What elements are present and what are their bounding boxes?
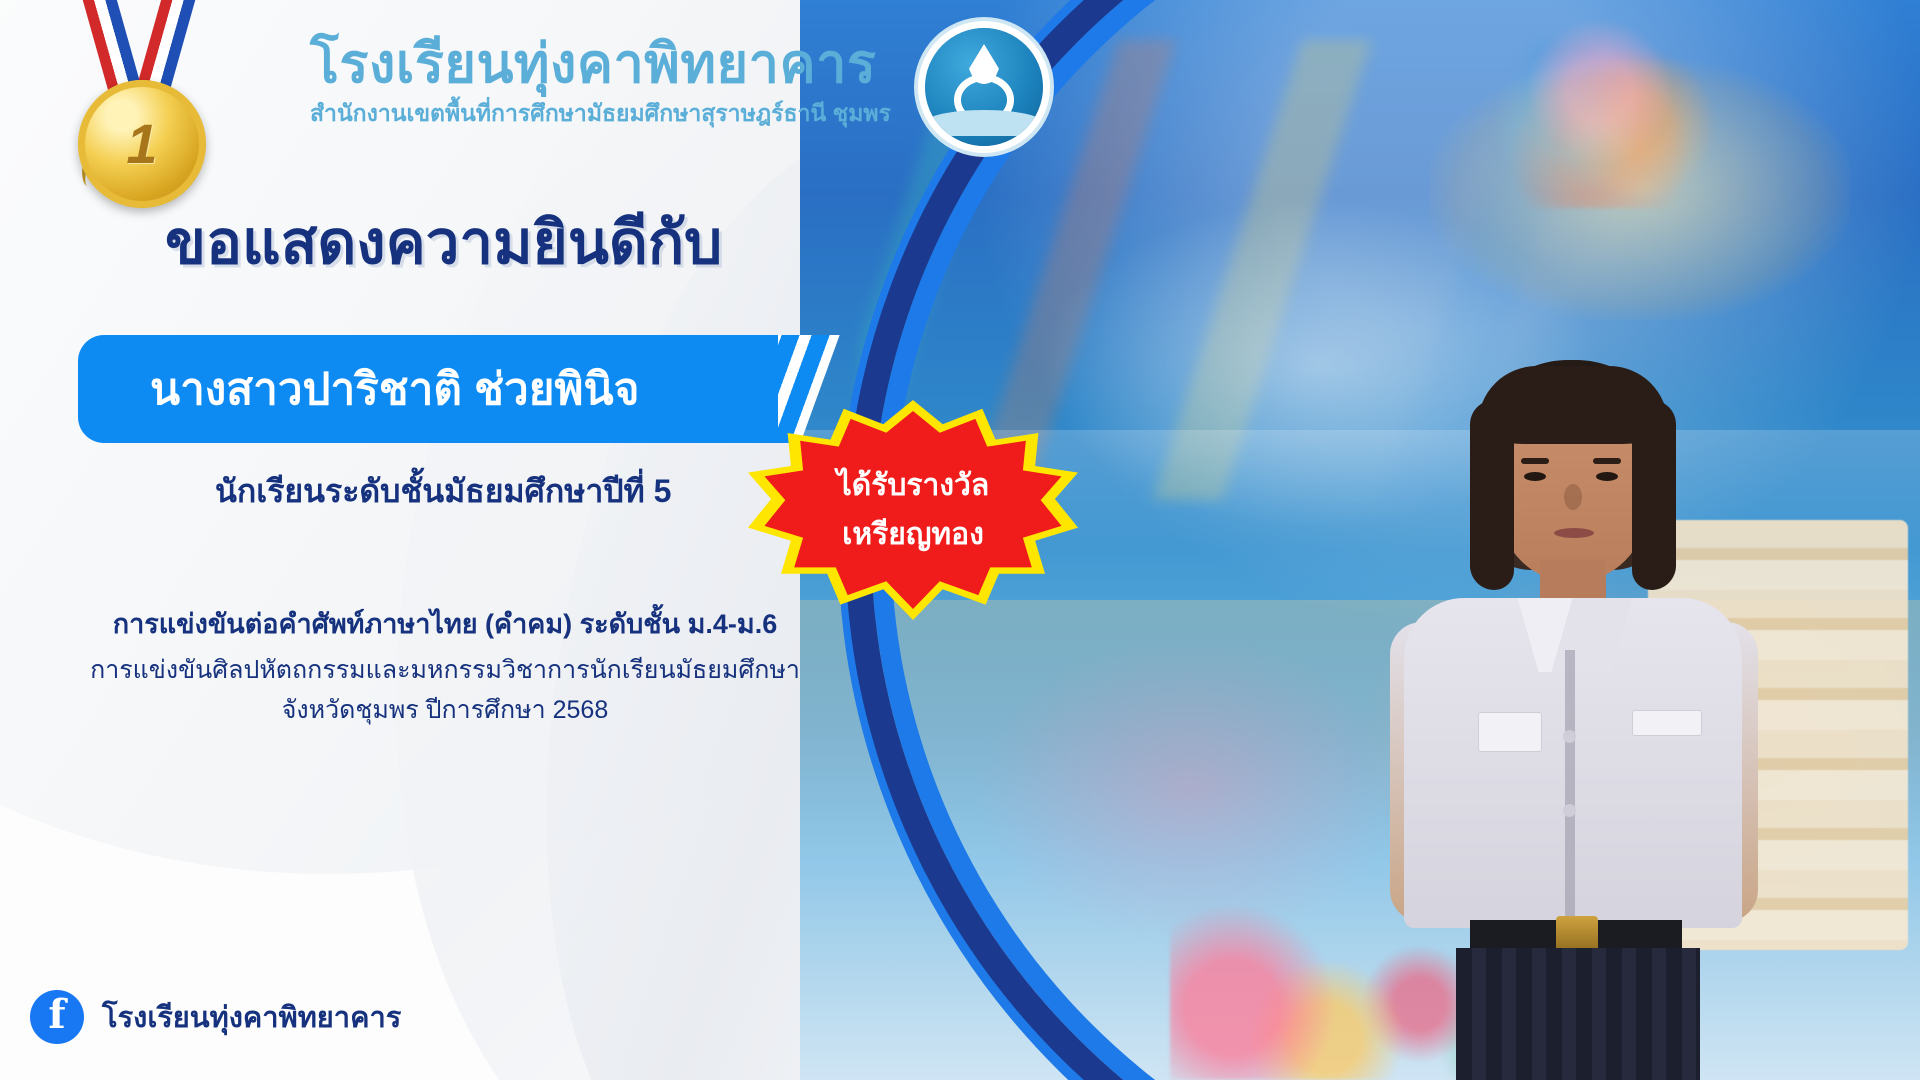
facebook-footer[interactable]: f โรงเรียนทุ่งคาพิทยาคาร: [30, 990, 401, 1044]
gold-medal-icon: 1: [40, 0, 230, 224]
award-badge-line1: ได้รับรางวัล: [837, 462, 990, 509]
facebook-icon[interactable]: f: [30, 990, 84, 1044]
medal-disc: 1: [78, 80, 206, 208]
event-name-line2: จังหวัดชุมพร ปีการศึกษา 2568: [65, 690, 825, 730]
medal-rank-number: 1: [126, 116, 157, 172]
congratulations-poster: 1 โรงเรียนทุ่งคาพิทยาคาร สำนักงานเขตพื้น…: [0, 0, 1920, 1080]
award-badge-line2: เหรียญทอง: [842, 511, 984, 558]
student-name: นางสาวปาริชาติ ช่วยพินิจ: [78, 354, 639, 424]
student-name-banner: นางสาวปาริชาติ ช่วยพินิจ: [78, 335, 778, 443]
facebook-glyph: f: [48, 995, 65, 1035]
logo-wave-shape: [925, 110, 1043, 136]
student-grade-level: นักเรียนระดับชั้นมัธยมศึกษาปีที่ 5: [215, 466, 671, 517]
award-badge: ได้รับรางวัล เหรียญทอง: [748, 400, 1078, 620]
facebook-page-name: โรงเรียนทุ่งคาพิทยาคาร: [102, 994, 401, 1040]
competition-title: การแข่งขันต่อคำศัพท์ภาษาไทย (คำคม) ระดับ…: [85, 602, 805, 645]
award-badge-text: ได้รับรางวัล เหรียญทอง: [748, 400, 1078, 620]
page-title: ขอแสดงความยินดีกับ: [165, 195, 722, 290]
event-name-line1: การแข่งขันศิลปหัตถกรรมและมหกรรมวิชาการนั…: [65, 650, 825, 690]
school-logo-icon: [925, 28, 1043, 146]
